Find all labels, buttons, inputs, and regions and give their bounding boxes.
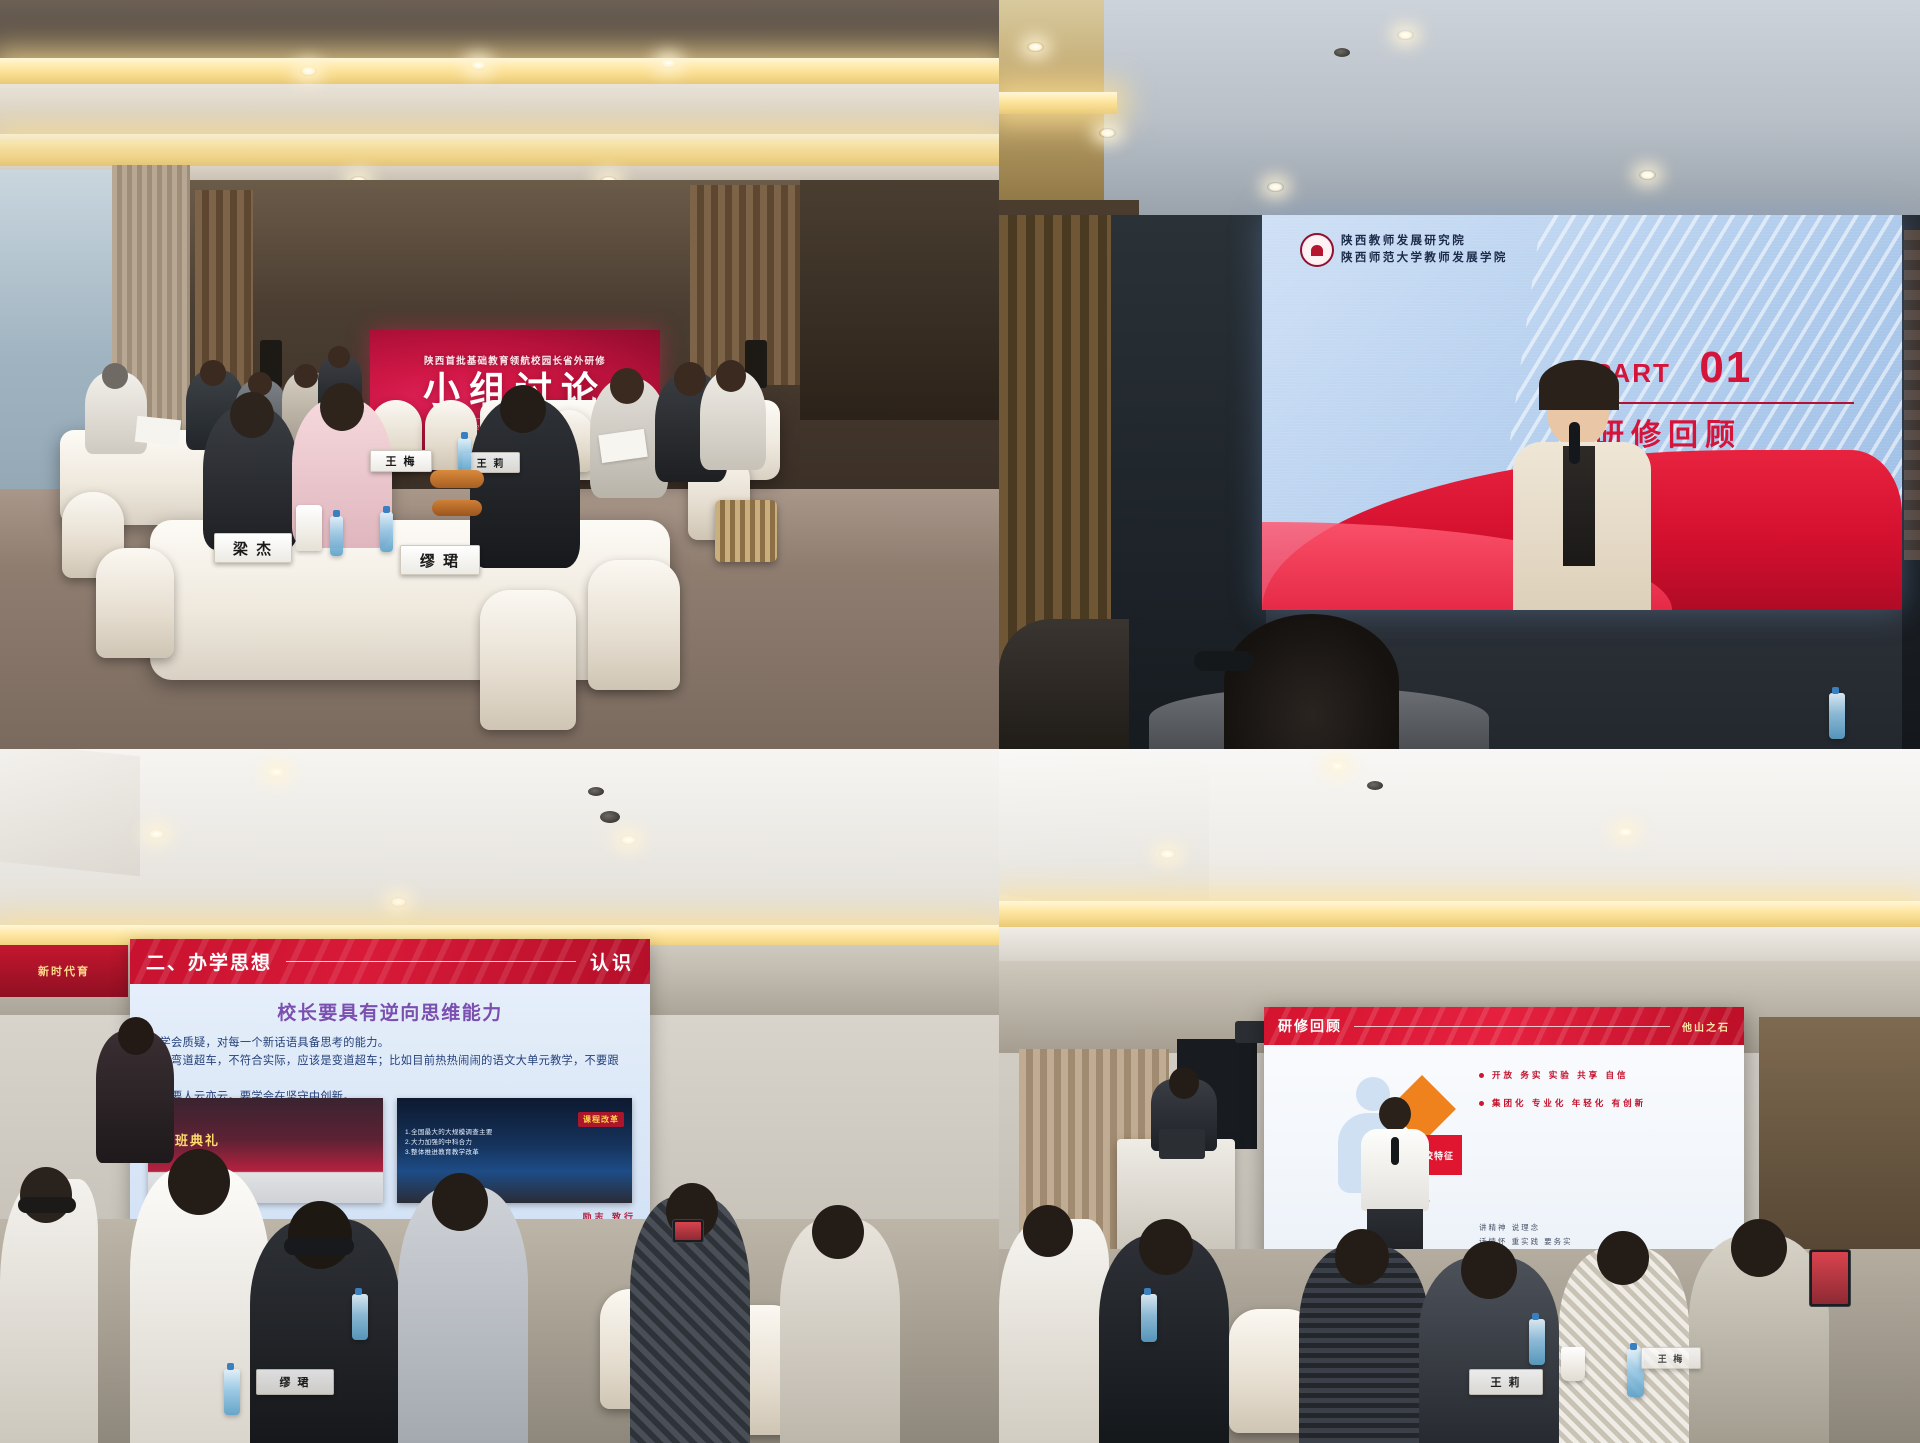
- attendee-head: [610, 368, 644, 404]
- downlight-icon: [660, 58, 677, 68]
- attendee-head: [1023, 1205, 1073, 1257]
- slide-body: 要学会质疑，对每一个新话语具备思考的能力。 比如弯道超车，不符合实际，应该是变道…: [130, 1035, 650, 1107]
- attendee-head: [288, 1201, 352, 1269]
- water-bottle: [1829, 693, 1845, 739]
- speaker-inner-top: [1563, 446, 1595, 566]
- led-presentation-screen: 陕西教师发展研究院 陕西师范大学教师发展学院 PART 01 研修回顾: [1262, 215, 1902, 610]
- presenter-head: [118, 1017, 154, 1055]
- photo-collage: 陕西首批基础教育领航校园长省外研修 小组讨论 2025年10月19日 广东·深圳: [0, 0, 1920, 1443]
- ceiling-bulkhead: [999, 749, 1209, 924]
- side-wall: [800, 180, 999, 420]
- chair: [96, 548, 174, 658]
- downlight-icon: [1329, 761, 1346, 771]
- slide-photo-right-line: 2.大力加强的中科合力: [405, 1138, 493, 1148]
- nameplate: 王 梅: [1641, 1347, 1701, 1369]
- slide-tag-text: 集团化 专业化 年轻化 有创新: [1492, 1097, 1646, 1109]
- bullet-dot-icon: [1479, 1073, 1484, 1078]
- nameplate: 缪 珺: [400, 545, 480, 575]
- wall-banner: 新时代育: [0, 945, 128, 997]
- cove-light-strip: [999, 92, 1117, 114]
- slide-header-rule: [1354, 1026, 1670, 1027]
- water-bottle: [352, 1294, 368, 1340]
- downlight-icon: [1617, 827, 1634, 837]
- slide-header: 二、办学思想 认识: [130, 939, 650, 984]
- ceiling-band: [0, 84, 999, 134]
- institution-logo-block: 陕西教师发展研究院 陕西师范大学教师发展学院: [1300, 233, 1508, 267]
- smoke-detector-icon: [600, 811, 620, 823]
- bullet-dot-icon: [1479, 1101, 1484, 1106]
- microphone-icon: [1569, 422, 1580, 464]
- nameplate: 梁 杰: [214, 533, 292, 563]
- downlight-icon: [470, 60, 487, 70]
- cove-light-strip: [0, 58, 999, 84]
- handbag: [715, 500, 777, 562]
- eyeglasses-icon: [1194, 651, 1254, 671]
- cove-light-strip-2: [0, 134, 999, 168]
- org-line-1: 陕西教师发展研究院: [1341, 233, 1508, 250]
- water-bottle: [330, 516, 343, 556]
- seated-host-head: [1169, 1067, 1199, 1099]
- ceiling-bulkhead: [0, 749, 140, 876]
- photo-panel-bottom-left: 新时代育 二、办学思想 认识 校长要具有逆向思维能力 要学会质疑，对每一个新话语…: [0, 749, 999, 1443]
- downlight-icon: [1159, 849, 1176, 859]
- ceiling-slab: [0, 0, 999, 60]
- photo-panel-top-right: 陕西教师发展研究院 陕西师范大学教师发展学院 PART 01 研修回顾: [999, 0, 1920, 749]
- eyeglasses-icon: [18, 1197, 76, 1213]
- org-line-2: 陕西师范大学教师发展学院: [1341, 250, 1508, 267]
- nameplate: 王 梅: [370, 450, 432, 472]
- microphone-icon: [1391, 1137, 1399, 1165]
- attendee-head: [200, 360, 226, 386]
- smartphone-icon: [672, 1219, 704, 1243]
- slide-detail-line: 讲精神 说理念: [1479, 1221, 1732, 1235]
- ceiling: [999, 0, 1920, 215]
- attendee-head: [230, 392, 274, 438]
- photo-panel-top-left: 陕西首批基础教育领航校园长省外研修 小组讨论 2025年10月19日 广东·深圳: [0, 0, 999, 749]
- foreground-figure: [999, 619, 1129, 749]
- attendee-head: [1461, 1241, 1517, 1299]
- attendee-head: [432, 1173, 488, 1231]
- attendee-head: [168, 1149, 230, 1215]
- attendee-head: [674, 362, 706, 396]
- institution-names: 陕西教师发展研究院 陕西师范大学教师发展学院: [1341, 233, 1508, 266]
- smoke-detector-icon: [1334, 48, 1350, 57]
- downlight-icon: [1397, 30, 1414, 40]
- smoke-detector-icon: [1367, 781, 1383, 790]
- slide-header-rule: [286, 961, 576, 962]
- slide-section-title: 二、办学思想: [146, 948, 272, 975]
- attendee-head: [716, 360, 746, 392]
- slide-tag-row: 集团化 专业化 年轻化 有创新: [1479, 1097, 1730, 1109]
- attendee-head: [1597, 1231, 1649, 1285]
- water-bottle: [458, 438, 471, 472]
- slide-body-line: 要学会质疑，对每一个新话语具备思考的能力。: [148, 1035, 632, 1053]
- slide-photo-right-line: 3.整体推进教育教学改革: [405, 1148, 493, 1158]
- paper-cup: [1561, 1347, 1585, 1381]
- speaker-hair: [1539, 360, 1619, 410]
- slide-photo-right-line: 1.全国最大的大规模调查主要: [405, 1128, 493, 1138]
- slide-headline: 校长要具有逆向思维能力: [130, 998, 650, 1025]
- slide-section-tag: 认识: [590, 948, 634, 975]
- slide-photo-right-caption: 课程改革: [578, 1112, 624, 1127]
- attendee-head: [320, 383, 364, 431]
- water-bottle: [1529, 1319, 1545, 1365]
- slide-section-title: 研修回顾: [1278, 1016, 1342, 1036]
- attendee-head: [812, 1205, 864, 1259]
- downlight-icon: [620, 835, 637, 845]
- downlight-icon: [148, 829, 165, 839]
- water-bottle: [1141, 1294, 1157, 1342]
- downlight-icon: [1639, 170, 1656, 180]
- attendee-head: [1335, 1229, 1389, 1285]
- slide-body-line: 比如弯道超车，不符合实际，应该是变道超车；比如目前热热闹闹的语文大单元教学，不要…: [148, 1053, 632, 1089]
- downlight-icon: [300, 66, 317, 76]
- water-bottle: [380, 512, 393, 552]
- downlight-icon: [1027, 42, 1044, 52]
- speaker-on-screen: [1507, 360, 1657, 610]
- presenter-head: [1379, 1097, 1411, 1131]
- slide-tag-row: 开放 务实 实验 共享 自信: [1479, 1069, 1730, 1081]
- attendee-head: [102, 363, 128, 389]
- university-seal-icon: [1300, 233, 1334, 267]
- laptop-icon: [1159, 1129, 1205, 1159]
- chair: [588, 560, 680, 690]
- attendee-head: [20, 1167, 72, 1223]
- slide-photo-right: 课程改革 1.全国最大的大规模调查主要 2.大力加强的中科合力 3.整体推进教育…: [397, 1098, 632, 1203]
- attendee-head: [1139, 1219, 1193, 1275]
- fruit-plate: [430, 470, 484, 488]
- chair: [480, 590, 576, 730]
- smartphone-icon: [1809, 1249, 1851, 1307]
- screen-subtitle: 陕西首批基础教育领航校园长省外研修: [424, 353, 606, 367]
- audience-head-back: [1224, 614, 1399, 749]
- photo-panel-bottom-right: 研修回顾 他山之石 学校特征 开放 务实 实验 共享 自信 集团化 专: [999, 749, 1920, 1443]
- downlight-icon: [268, 767, 285, 777]
- part-number: 01: [1699, 343, 1752, 393]
- ceiling-band: [999, 927, 1920, 961]
- cove-light-strip: [999, 901, 1920, 927]
- wall-trim: [1904, 230, 1920, 560]
- downlight-icon: [1099, 128, 1116, 138]
- slide-photo-right-lines: 1.全国最大的大规模调查主要 2.大力加强的中科合力 3.整体推进教育教学改革: [405, 1128, 493, 1157]
- attendee-head: [1731, 1219, 1787, 1277]
- eyeglasses-icon: [284, 1237, 354, 1255]
- attendee-head: [500, 385, 546, 433]
- slide-header: 研修回顾 他山之石: [1264, 1007, 1744, 1045]
- document: [135, 416, 181, 446]
- downlight-icon: [1267, 182, 1284, 192]
- fruit-plate: [432, 500, 482, 516]
- smoke-detector-icon: [588, 787, 604, 796]
- slide-tag-text: 开放 务实 实验 共享 自信: [1492, 1069, 1628, 1081]
- downlight-icon: [390, 897, 407, 907]
- nameplate: 缪 珺: [256, 1369, 334, 1395]
- ceiling: [0, 749, 999, 954]
- presenter-head: [328, 346, 350, 368]
- slide-tag-rows: 开放 务实 实验 共享 自信 集团化 专业化 年轻化 有创新: [1479, 1069, 1730, 1125]
- water-bottle: [224, 1369, 240, 1415]
- paper-cup: [296, 505, 322, 551]
- nameplate: 王 莉: [1469, 1369, 1543, 1395]
- slide-section-tag: 他山之石: [1682, 1019, 1730, 1034]
- attendee-head: [294, 364, 318, 388]
